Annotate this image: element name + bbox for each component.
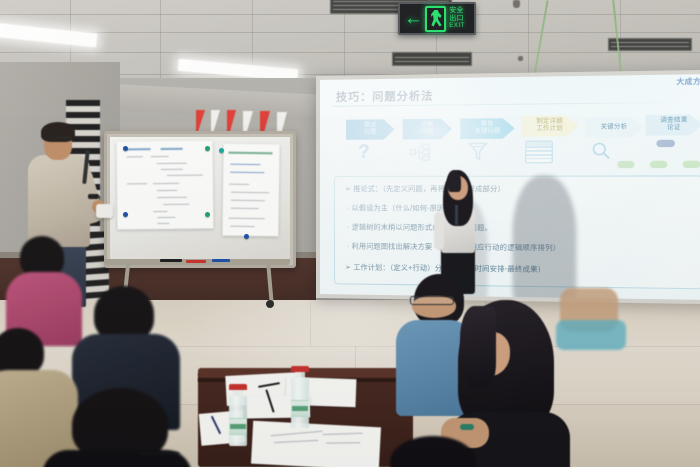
projected-slide: 技巧：问题分析法 大成方略 描述问题 分解问题 聚焦关键问题 制定详细工作计划 xyxy=(320,74,700,300)
attendee-front-head xyxy=(390,436,476,467)
attendee-teal-sleeve xyxy=(556,320,626,350)
magnet[interactable] xyxy=(205,146,210,151)
whiteboard-marker[interactable] xyxy=(160,259,182,262)
whiteboard[interactable] xyxy=(104,131,296,268)
classroom-photo: ← 安全出口 EXIT xyxy=(0,0,700,467)
magnet[interactable] xyxy=(205,212,210,217)
green-hanging-cable xyxy=(533,0,548,75)
flipchart-paper xyxy=(251,421,381,467)
projection-screen: 技巧：问题分析法 大成方略 描述问题 分解问题 聚焦关键问题 制定详细工作计划 xyxy=(316,70,700,305)
emergency-exit-sign: ← 安全出口 EXIT xyxy=(398,2,476,35)
whiteboard-caster-wheel xyxy=(266,300,274,308)
list-item xyxy=(222,144,279,237)
sprinkler-head xyxy=(518,56,523,61)
glasses-icon xyxy=(140,452,180,463)
magnet[interactable] xyxy=(123,212,128,217)
attendee-hair-front xyxy=(460,306,496,388)
exit-sign-english-label: EXIT xyxy=(449,23,470,30)
cast-shadow xyxy=(513,176,577,300)
water-bottle[interactable] xyxy=(291,366,309,428)
magnet[interactable] xyxy=(244,234,249,239)
magnet[interactable] xyxy=(123,146,128,151)
left-arrow-icon: ← xyxy=(404,9,423,28)
wristwatch xyxy=(88,194,99,199)
exit-sign-chinese-label: 安全出口 xyxy=(449,7,470,23)
exit-door-icon xyxy=(425,6,446,32)
smoke-detector xyxy=(513,0,520,8)
projector-wash xyxy=(320,74,700,300)
running-man-icon xyxy=(431,10,442,27)
ceiling-vent xyxy=(392,52,472,66)
clicker-remote[interactable] xyxy=(96,204,113,218)
air-diffuser xyxy=(608,38,692,51)
presenter-arm xyxy=(434,212,444,250)
ceiling-light-panel xyxy=(0,23,97,48)
whiteboard-marker[interactable] xyxy=(212,259,230,262)
attendee-pink-top xyxy=(6,236,82,336)
magnet[interactable] xyxy=(219,148,224,153)
presenter-hair-front xyxy=(447,170,461,192)
bracelet xyxy=(460,424,474,430)
glasses-icon xyxy=(56,137,71,143)
whiteboard-marker[interactable] xyxy=(186,260,206,263)
list-item xyxy=(117,140,214,229)
lanyard xyxy=(455,205,458,225)
water-bottle[interactable] xyxy=(229,384,247,446)
